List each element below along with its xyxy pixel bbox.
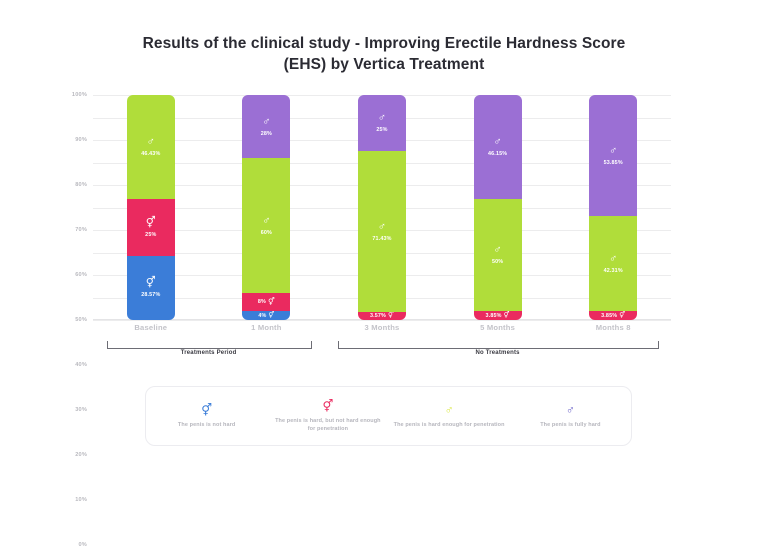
gender-symbol-icon: ⚥ [388,312,394,319]
x-axis-label: Months 8 [568,323,658,332]
gender-symbol-icon: ♂ [609,254,617,265]
gender-symbol-icon: ⚥ [146,218,156,229]
gridline: 0% [93,320,671,321]
bar-segment-ehs2: 3.85%⚥ [589,311,637,320]
y-axis-tick-label: 20% [75,452,87,458]
bar-segment-value-label: 50% [492,259,503,265]
y-axis-tick-label: 0% [79,542,88,548]
bar-segment-ehs4: ♂25% [358,95,406,151]
bar-segment-value-label: 8% [258,299,266,305]
bar-segment-ehs3: ♂42.31% [589,216,637,311]
x-axis-label: 3 Months [337,323,427,332]
bar-segment-ehs4: ♂53.85% [589,95,637,216]
plot-area: 0%10%20%30%40%50%60%70%80%90%100% ⚥28.57… [93,95,671,320]
chart-title: Results of the clinical study - Improvin… [0,33,768,75]
bar-segment-value-label: 3.85% [486,313,502,319]
bar-segment-value-label: 28% [261,131,272,137]
bar-segment-value-label: 28.57% [141,292,160,298]
bar-segment-value-label: 53.85% [604,160,623,166]
bar-segment-value-label: 71.43% [372,236,391,242]
bar-segment-value-label: 46.43% [141,151,160,157]
gender-symbol-icon: ♂ [378,113,386,124]
bar-segment-value-label: 46.15% [488,151,507,157]
gender-symbol-icon: ♂ [609,146,617,157]
stacked-bar: 3.85%⚥♂50%♂46.15% [474,95,522,320]
period-brackets: Treatments PeriodNo Treatments [93,341,671,365]
bar-segment-value-label: 4% [258,313,266,319]
gender-symbol-icon: ♂ [262,117,270,128]
gender-symbol-icon: ⚥ [619,312,625,319]
legend-item-label: The penis is not hard [178,421,235,429]
bar-segment-ehs3: ♂46.43% [127,95,175,199]
x-axis-labels: Baseline1 Month3 Months5 MonthsMonths 8 [93,323,671,339]
gender-symbol-icon: ♂ [378,222,386,233]
gender-symbol-icon: ⚥ [504,312,510,319]
chart-page: Results of the clinical study - Improvin… [0,0,768,481]
legend-item-label: The penis is hard, but not hard enough f… [271,417,384,433]
legend-gender-symbol-icon: ♂ [566,404,575,417]
stacked-bar: 3.57%⚥♂71.43%♂25% [358,95,406,320]
chart-title-line-1: Results of the clinical study - Improvin… [143,35,626,52]
bar-segment-ehs3: ♂71.43% [358,151,406,312]
bracket [107,341,312,349]
bar-segment-ehs3: ♂60% [242,158,290,293]
stacked-bar: 4%⚥8%⚥♂60%♂28% [242,95,290,320]
y-axis-tick-label: 100% [72,92,87,98]
bar-segment-value-label: 3.57% [370,313,386,319]
x-axis-label: 5 Months [453,323,543,332]
bar-group: ⚥28.57%⚥25%♂46.43%4%⚥8%⚥♂60%♂28%3.57%⚥♂7… [93,95,671,320]
stacked-bar: 3.85%⚥♂42.31%♂53.85% [589,95,637,320]
gender-symbol-icon: ♂ [262,216,270,227]
gender-symbol-icon: ♂ [147,137,155,148]
legend-item-label: The penis is hard enough for penetration [394,421,505,429]
y-axis-tick-label: 80% [75,182,87,188]
chart-title-line-2: (EHS) by Vertica Treatment [0,54,768,75]
gender-symbol-icon: ⚥ [268,312,274,319]
y-axis-tick-label: 70% [75,227,87,233]
legend-gender-symbol-icon: ⚥ [201,404,212,417]
bracket-label: Treatments Period [107,350,310,356]
gender-symbol-icon: ♂ [493,245,501,256]
legend-gender-symbol-icon: ⚥ [322,400,333,413]
bar-segment-value-label: 3.85% [601,313,617,319]
legend-item-label: The penis is fully hard [540,421,600,429]
legend-item: ♂The penis is hard enough for penetratio… [389,404,510,429]
legend-item: ⚥The penis is not hard [146,404,267,429]
gender-symbol-icon: ♂ [493,137,501,148]
legend-item: ⚥The penis is hard, but not hard enough … [267,400,388,433]
legend-gender-symbol-icon: ♂ [445,404,454,417]
bar-segment-value-label: 42.31% [604,268,623,274]
stacked-bar: ⚥28.57%⚥25%♂46.43% [127,95,175,320]
bar-segment-ehs2: 8%⚥ [242,293,290,311]
bar-segment-value-label: 25% [376,127,387,133]
y-axis-tick-label: 30% [75,407,87,413]
y-axis-tick-label: 40% [75,362,87,368]
bar-segment-ehs4: ♂28% [242,95,290,158]
gender-symbol-icon: ⚥ [268,298,275,306]
y-axis-tick-label: 50% [75,317,87,323]
bar-segment-value-label: 60% [261,230,272,236]
bar-segment-ehs2: 3.57%⚥ [358,312,406,320]
bracket-label: No Treatments [338,350,657,356]
legend-item: ♂The penis is fully hard [510,404,631,429]
x-axis-label: 1 Month [221,323,311,332]
bar-segment-ehs3: ♂50% [474,199,522,312]
y-axis-tick-label: 90% [75,137,87,143]
bracket [338,341,659,349]
bar-segment-ehs4: ♂46.15% [474,95,522,199]
chart-legend: ⚥The penis is not hard⚥The penis is hard… [145,386,632,446]
bar-segment-ehs2: ⚥25% [127,199,175,255]
bar-segment-ehs2: 3.85%⚥ [474,311,522,320]
bar-segment-ehs1: 4%⚥ [242,311,290,320]
x-axis-label: Baseline [106,323,196,332]
bar-segment-value-label: 25% [145,232,156,238]
gender-symbol-icon: ⚥ [146,278,156,289]
y-axis-tick-label: 60% [75,272,87,278]
y-axis-tick-label: 10% [75,497,87,503]
bar-segment-ehs1: ⚥28.57% [127,256,175,320]
